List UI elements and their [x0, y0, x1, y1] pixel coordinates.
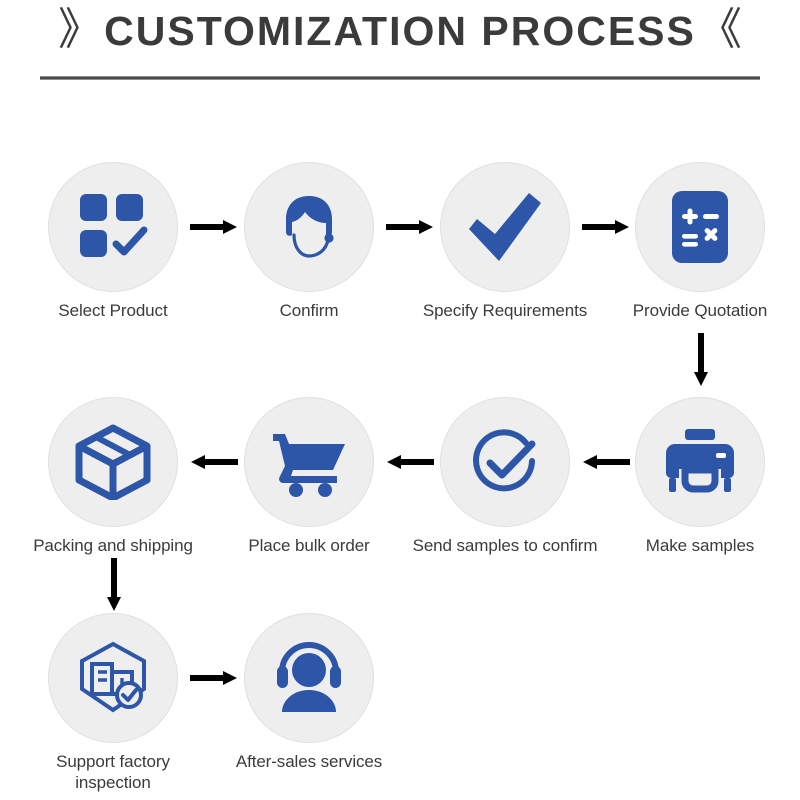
flow-step-label: Make samples [605, 536, 795, 557]
support-agent-headset-icon [270, 188, 348, 266]
flow-step-make-samples[interactable]: Make samples [605, 397, 795, 557]
flow-step-icon-circle [244, 397, 374, 527]
flow-step-icon-circle [48, 162, 178, 292]
arrow-row2-step6-to-step7 [386, 453, 434, 471]
flow-step-icon-circle [440, 162, 570, 292]
process-flow: Select Product Confirm Specify Requireme… [0, 0, 800, 800]
flow-step-label: Send samples to confirm [410, 536, 600, 557]
package-box-icon [73, 424, 153, 500]
flow-step-place-bulk-order[interactable]: Place bulk order [214, 397, 404, 557]
flow-step-icon-circle [244, 162, 374, 292]
factory-inspection-shield-icon [74, 640, 152, 716]
shopping-cart-icon [269, 426, 349, 498]
arrow-row2-step7-to-step8 [190, 453, 238, 471]
flow-step-icon-circle [48, 397, 178, 527]
flow-step-icon-circle [48, 613, 178, 743]
flow-step-label: Provide Quotation [605, 301, 795, 322]
arrow-row1-to-row2 [692, 333, 710, 387]
headphones-person-icon [270, 642, 348, 714]
arrow-row1-step2-to-step3 [386, 218, 434, 236]
flow-step-after-sales-services[interactable]: After-sales services [214, 613, 404, 773]
checkmark-icon [463, 185, 547, 269]
flow-step-icon-circle [244, 613, 374, 743]
flow-step-label: Support factory inspection [18, 752, 208, 793]
flow-step-support-factory-inspection[interactable]: Support factory inspection [18, 613, 208, 793]
printer-icon [661, 426, 739, 498]
flow-step-confirm[interactable]: Confirm [214, 162, 404, 322]
flow-step-label: Confirm [214, 301, 404, 322]
circle-check-outline-icon [466, 423, 544, 501]
flow-step-label: After-sales services [214, 752, 404, 773]
flow-step-icon-circle [635, 397, 765, 527]
arrow-row1-step1-to-step2 [190, 218, 238, 236]
arrow-row3-step9-to-step10 [190, 669, 238, 687]
flow-step-select-product[interactable]: Select Product [18, 162, 208, 322]
flow-step-label: Place bulk order [214, 536, 404, 557]
arrow-row2-step5-to-step6 [582, 453, 630, 471]
flow-step-icon-circle [635, 162, 765, 292]
flow-step-label: Specify Requirements [410, 301, 600, 322]
arrow-row2-to-row3 [105, 558, 123, 612]
flow-step-provide-quotation[interactable]: Provide Quotation [605, 162, 795, 322]
flow-step-label: Select Product [18, 301, 208, 322]
flow-step-specify-requirements[interactable]: Specify Requirements [410, 162, 600, 322]
flow-step-packing-and-shipping[interactable]: Packing and shipping [18, 397, 208, 557]
grid-check-icon [76, 190, 150, 264]
flow-step-label: Packing and shipping [18, 536, 208, 557]
calculator-icon [664, 188, 736, 266]
flow-step-send-samples-to-confirm[interactable]: Send samples to confirm [410, 397, 600, 557]
flow-step-icon-circle [440, 397, 570, 527]
arrow-row1-step3-to-step4 [582, 218, 630, 236]
